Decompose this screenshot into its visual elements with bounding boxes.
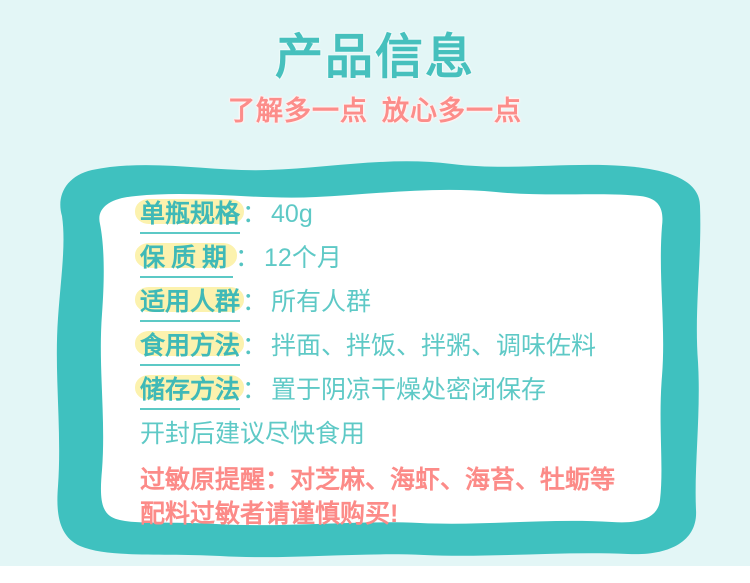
- info-label-storage: 储存方法: [140, 372, 240, 410]
- info-label-shelf-life: 保质期: [140, 240, 233, 278]
- label-highlight-audience: 适用人群: [140, 284, 240, 322]
- subtitle-right: 放心多一点: [382, 96, 522, 126]
- header: 产品信息 了解多一点放心多一点: [0, 0, 750, 127]
- label-highlight-spec: 单瓶规格: [140, 196, 240, 234]
- allergen-line-2: 配料过敏者请谨慎购买!: [140, 497, 670, 531]
- allergen-warning: 过敏原提醒：对芝麻、海虾、海苔、牡蛎等 配料过敏者请谨慎购买!: [140, 463, 670, 531]
- info-label-audience: 适用人群: [140, 284, 240, 322]
- info-colon-storage: ：: [240, 372, 271, 408]
- info-colon-shelf-life: ：: [233, 240, 264, 276]
- page-title: 产品信息: [0, 0, 750, 85]
- info-row-storage: 储存方法 ：置于阴凉干燥处密闭保存: [140, 372, 660, 416]
- info-value-audience: 所有人群: [271, 284, 371, 320]
- label-highlight-shelf-life: 保质期: [140, 240, 233, 278]
- info-colon-spec: ：: [240, 196, 271, 232]
- info-row-open-note: 开封后建议尽快食用: [140, 416, 660, 460]
- info-row-shelf-life: 保质期 ：12个月: [140, 240, 660, 284]
- info-label-spec: 单瓶规格: [140, 196, 240, 234]
- info-row-usage: 食用方法 ：拌面、拌饭、拌粥、调味佐料: [140, 328, 660, 372]
- info-row-spec: 单瓶规格 ：40g: [140, 196, 660, 240]
- info-note-open: 开封后建议尽快食用: [140, 420, 365, 448]
- label-highlight-storage: 储存方法: [140, 372, 240, 410]
- allergen-line-1: 过敏原提醒：对芝麻、海虾、海苔、牡蛎等: [140, 463, 670, 497]
- product-info-poster: 产品信息 了解多一点放心多一点 单瓶规格 ：40g 保质期 ：12个月 适用人群…: [0, 0, 750, 583]
- subtitle-left: 了解多一点: [228, 96, 368, 126]
- info-value-shelf-life: 12个月: [264, 240, 342, 276]
- page-subtitle: 了解多一点放心多一点: [0, 85, 750, 127]
- product-info-list: 单瓶规格 ：40g 保质期 ：12个月 适用人群 ：所有人群 食用方法 ：拌面、…: [140, 196, 660, 460]
- info-colon-usage: ：: [240, 328, 271, 364]
- label-highlight-usage: 食用方法: [140, 328, 240, 366]
- info-colon-audience: ：: [240, 284, 271, 320]
- info-value-usage: 拌面、拌饭、拌粥、调味佐料: [271, 328, 596, 364]
- info-row-audience: 适用人群 ：所有人群: [140, 284, 660, 328]
- info-value-storage: 置于阴凉干燥处密闭保存: [271, 372, 546, 408]
- info-label-usage: 食用方法: [140, 328, 240, 366]
- info-value-spec: 40g: [271, 196, 313, 232]
